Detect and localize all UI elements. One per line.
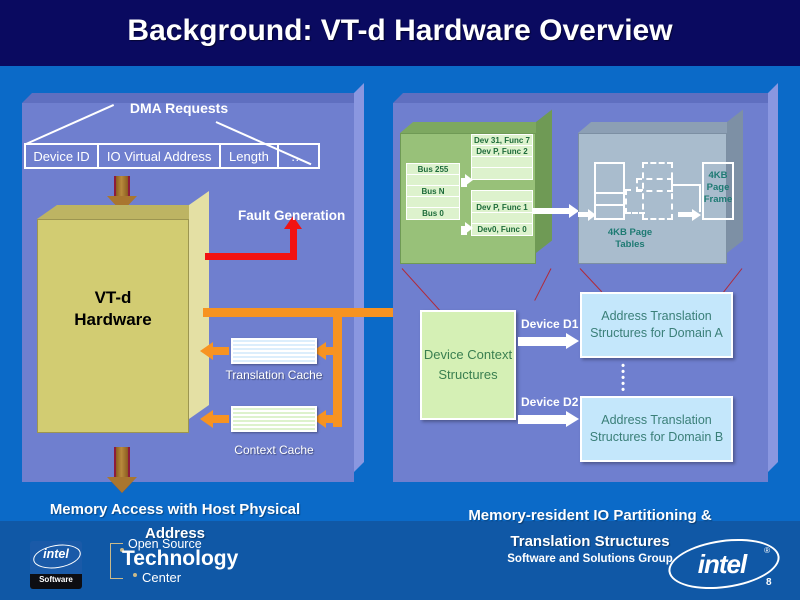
vtd-top-face <box>37 205 209 219</box>
intel-logo: intel ® <box>668 540 776 586</box>
field-device-id: Device ID <box>26 145 99 167</box>
device-d1-arrow <box>518 333 580 350</box>
intel-logo-registered: ® <box>764 546 770 555</box>
device-row: Dev P, Func 1 <box>472 202 532 213</box>
vtd-hardware-block: VT-d Hardware <box>37 205 209 447</box>
vtd-hardware-label: VT-d Hardware <box>37 287 189 331</box>
left-caption-line1: Memory Access with Host Physical <box>30 498 320 522</box>
vertical-ellipsis: ••••• <box>620 363 626 393</box>
page-tables-label: 4KB Page Tables <box>594 227 666 251</box>
fault-generation-label: Fault Generation <box>238 208 345 223</box>
pagetable-dashed-link <box>625 189 643 191</box>
pagetable-dashed-join <box>625 212 645 214</box>
bus-to-dev-lower-arrow <box>461 222 473 236</box>
vtd-side-face <box>189 191 209 419</box>
field-io-virtual-address: IO Virtual Address <box>99 145 221 167</box>
orange-translation-to-vtd-head <box>200 342 213 360</box>
device-row <box>472 168 532 179</box>
orange-context-to-vtd-head <box>200 410 213 428</box>
translation-cache-box <box>231 338 317 364</box>
dma-request-field-row: Device ID IO Virtual Address Length … <box>24 143 320 169</box>
field-ellipsis: … <box>279 145 318 167</box>
page-title: Background: VT-d Hardware Overview <box>0 14 800 48</box>
context-cache-box <box>231 406 317 432</box>
device-d2-arrow <box>518 411 580 428</box>
intel-logo-brand: intel <box>668 549 776 580</box>
bus-row <box>407 175 459 186</box>
fault-arrow-vertical <box>290 228 297 256</box>
dma-requests-label: DMA Requests <box>24 100 334 116</box>
context-cache-label: Context Cache <box>209 443 339 457</box>
entry-to-frame-link <box>673 184 701 186</box>
memory-access-arrow <box>107 447 137 479</box>
fault-arrow-horizontal <box>205 253 297 260</box>
device-table-lower: Dev P, Func 1 Dev0, Func 0 <box>471 190 533 236</box>
domain-a-structures-box: Address Translation Structures for Domai… <box>580 292 733 358</box>
dma-into-hardware-arrow <box>107 176 137 198</box>
orange-context-feed <box>326 415 342 423</box>
device-row <box>472 213 532 224</box>
ostc-dot-icon-bottom <box>133 573 137 577</box>
bus-to-dev-upper-arrow <box>461 174 473 188</box>
dev-to-pagetable-arrow <box>533 204 581 218</box>
device-d2-label: Device D2 <box>521 395 578 409</box>
left-panel-right-bevel <box>354 83 364 472</box>
device-row: Dev0, Func 0 <box>472 224 532 235</box>
device-d1-label: Device D1 <box>521 317 578 331</box>
orange-translation-to-vtd <box>213 347 229 355</box>
pagetable-entry-arrow <box>578 209 598 221</box>
page-table-level1 <box>594 162 625 220</box>
page-frame-label: 4KB Page Frame <box>700 170 736 206</box>
device-table-upper: Dev 31, Func 7 Dev P, Func 2 <box>471 134 533 180</box>
bus-row <box>407 197 459 208</box>
orange-translation-feed <box>326 347 342 355</box>
device-context-structures-box: Device Context Structures <box>420 310 516 420</box>
intel-software-logo-sub: Software <box>30 575 82 584</box>
bus-table: Bus 255 Bus N Bus 0 <box>406 163 460 220</box>
intel-software-logo: intel Software <box>30 541 82 589</box>
device-row: Dev 31, Func 7 <box>472 135 532 146</box>
device-row <box>472 157 532 168</box>
bus-row: Bus 255 <box>407 164 459 175</box>
bus-row: Bus 0 <box>407 208 459 219</box>
pagetable-dashed-drop <box>625 189 627 214</box>
green-block-top-face <box>400 122 549 133</box>
device-row: Dev P, Func 2 <box>472 146 532 157</box>
intel-software-logo-brand: intel <box>30 547 82 561</box>
slide-canvas: Background: VT-d Hardware Overview DMA R… <box>0 0 800 600</box>
right-caption-line1: Memory-resident IO Partitioning & <box>420 503 760 529</box>
device-row <box>472 191 532 202</box>
orange-main-arrow-horizontal <box>203 308 395 317</box>
translation-cache-label: Translation Cache <box>209 368 339 382</box>
ostc-line3: Center <box>142 570 181 585</box>
bus-row: Bus N <box>407 186 459 197</box>
right-panel-top-bevel <box>393 93 778 103</box>
right-panel-right-bevel <box>768 83 778 472</box>
green-block-side-face <box>536 109 552 253</box>
entry-to-frame-drop <box>699 184 701 212</box>
ostc-logo: Open Source Technology Center <box>100 537 230 589</box>
orange-context-to-vtd <box>213 415 229 423</box>
field-length: Length <box>221 145 278 167</box>
grey-block-top-face <box>578 122 740 133</box>
ostc-line2: Technology <box>122 547 238 571</box>
domain-b-structures-box: Address Translation Structures for Domai… <box>580 396 733 462</box>
